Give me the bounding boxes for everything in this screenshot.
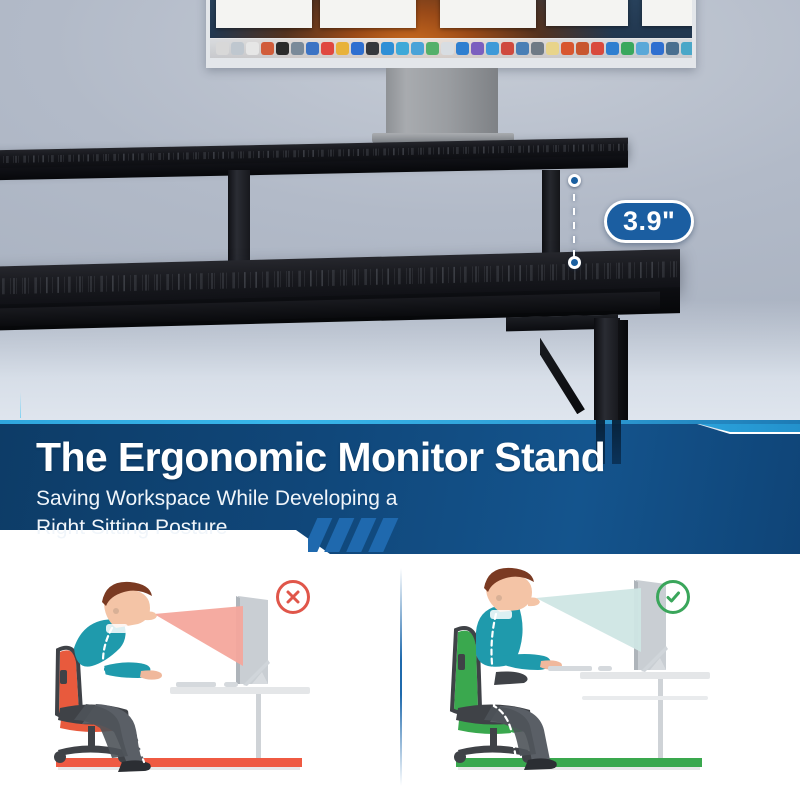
document-window <box>546 0 628 26</box>
incorrect-posture-illustration <box>0 554 400 800</box>
dock-icon <box>336 42 349 55</box>
ear <box>496 595 502 601</box>
ear <box>113 608 119 614</box>
dock-icon <box>366 42 379 55</box>
dock-icon <box>426 42 439 55</box>
check-mark-icon <box>656 580 690 614</box>
dock-icon <box>591 42 604 55</box>
dock-icon <box>231 42 244 55</box>
riser-leg-left <box>228 170 250 262</box>
dock-icon <box>411 42 424 55</box>
sight-line-cone <box>536 588 641 652</box>
dock-icon <box>666 42 679 55</box>
macos-dock <box>210 38 692 58</box>
desk-leg <box>658 679 663 758</box>
dock-icon <box>396 42 409 55</box>
dock-icon <box>576 42 589 55</box>
page-title: The Ergonomic Monitor Stand <box>36 434 605 481</box>
panel-incorrect-posture <box>0 554 400 800</box>
dock-icon <box>456 42 469 55</box>
nose <box>145 612 157 621</box>
measurement-endpoint-top <box>568 174 581 187</box>
shoe <box>118 760 151 772</box>
dock-icon <box>306 42 319 55</box>
collar <box>490 610 512 619</box>
mouse <box>224 682 238 687</box>
dock-icon <box>606 42 619 55</box>
floor-bar <box>456 758 702 767</box>
dock-icon <box>246 42 259 55</box>
armrest <box>494 672 528 686</box>
dock-icon <box>276 42 289 55</box>
dock-icon <box>351 42 364 55</box>
panel-correct-posture <box>400 554 800 800</box>
desk-surface <box>170 687 310 694</box>
decorative-slashes <box>308 518 428 552</box>
chair-back <box>454 631 478 713</box>
document-window <box>320 0 416 28</box>
banner-vertical-accent <box>20 392 21 418</box>
dock-icon <box>516 42 529 55</box>
chair-base <box>458 746 528 757</box>
banner-accent-strip <box>0 420 800 424</box>
product-marketing-image: 3.9" The Ergonomic Monitor Stand Saving … <box>0 0 800 800</box>
monitor-screen <box>210 0 692 58</box>
sight-line-cone <box>154 606 243 666</box>
dock-icon <box>636 42 649 55</box>
dock-icon <box>651 42 664 55</box>
dock-icon <box>531 42 544 55</box>
document-window <box>440 0 536 28</box>
dock-icon <box>681 42 692 55</box>
measurement-dashed-line <box>573 180 575 262</box>
dock-icon <box>216 42 229 55</box>
banner-stripe <box>612 420 621 464</box>
monitor <box>206 0 696 68</box>
dock-icon <box>471 42 484 55</box>
hand <box>140 670 162 679</box>
monitor-stand-neck <box>386 68 498 138</box>
measurement-badge: 3.9" <box>604 200 694 243</box>
floor-bar <box>56 758 302 767</box>
dock-icon <box>381 42 394 55</box>
riser-leg-right <box>542 170 560 256</box>
product-photo: 3.9" <box>0 0 800 430</box>
desk-leg <box>256 694 261 758</box>
x-mark-icon <box>276 580 310 614</box>
keyboard <box>548 666 592 671</box>
document-window <box>216 0 312 28</box>
desk-shelf <box>582 696 708 700</box>
correct-posture-illustration <box>400 554 800 800</box>
mouse <box>598 666 612 671</box>
dock-icon <box>321 42 334 55</box>
dock-icon <box>291 42 304 55</box>
shoe <box>524 758 557 770</box>
dock-icon <box>621 42 634 55</box>
document-window <box>642 0 692 26</box>
dock-icon <box>486 42 499 55</box>
dock-icon <box>501 42 514 55</box>
desk-surface <box>580 672 710 679</box>
chair-column <box>88 726 95 748</box>
posture-comparison <box>0 554 800 800</box>
measurement-endpoint-bottom <box>568 256 581 269</box>
dock-icon <box>561 42 574 55</box>
keyboard <box>176 682 216 687</box>
subtitle-line: Saving Workspace While Developing a <box>36 484 397 513</box>
dock-icon <box>261 42 274 55</box>
dock-icon <box>441 42 454 55</box>
dock-icon <box>546 42 559 55</box>
